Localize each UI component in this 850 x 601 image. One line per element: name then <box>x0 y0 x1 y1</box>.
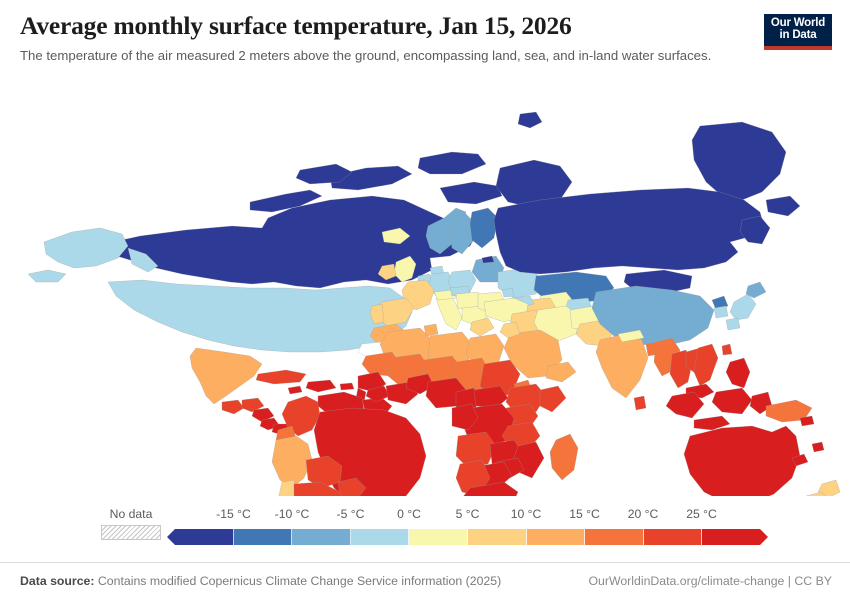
map-region-south-korea[interactable] <box>714 306 728 318</box>
map-region-cuba[interactable] <box>256 370 306 384</box>
legend-segment-0[interactable] <box>175 529 234 545</box>
legend-tick-8: 25 °C <box>686 508 717 520</box>
our-world-in-data-logo[interactable]: Our World in Data <box>764 14 832 50</box>
legend-segment-4[interactable] <box>409 529 468 545</box>
map-region-japan-kyushu[interactable] <box>726 318 740 330</box>
legend-tick-6: 15 °C <box>569 508 600 520</box>
map-region-jamaica[interactable] <box>288 386 302 394</box>
page-title: Average monthly surface temperature, Jan… <box>20 12 750 41</box>
legend-segment-5[interactable] <box>468 529 527 545</box>
legend-color-bar[interactable] <box>175 529 760 545</box>
attribution-link[interactable]: OurWorldinData.org/climate-change | CC B… <box>588 574 832 588</box>
world-choropleth-map[interactable] <box>0 96 850 496</box>
map-region-russia-east-tip[interactable] <box>766 196 800 216</box>
map-region-japan-honshu[interactable] <box>730 294 756 320</box>
map-region-vietnam[interactable] <box>694 344 718 386</box>
data-source-label: Data source: <box>20 574 95 588</box>
legend-no-data-label: No data <box>95 508 167 520</box>
legend-no-data-swatch[interactable] <box>101 525 161 540</box>
map-legend: No data -15 °C-10 °C-5 °C0 °C5 °C10 °C15… <box>0 500 850 556</box>
legend-tick-labels: -15 °C-10 °C-5 °C0 °C5 °C10 °C15 °C20 °C… <box>175 508 760 524</box>
legend-tick-5: 10 °C <box>511 508 542 520</box>
map-region-mexico[interactable] <box>190 348 262 404</box>
map-region-estonia-dot[interactable] <box>482 256 494 263</box>
legend-tick-2: -5 °C <box>337 508 365 520</box>
map-region-sri-lanka[interactable] <box>634 396 646 410</box>
map-region-borneo[interactable] <box>712 388 752 414</box>
legend-tick-1: -10 °C <box>275 508 310 520</box>
map-region-canada-arctic-4[interactable] <box>440 182 502 204</box>
map-region-india[interactable] <box>596 334 648 398</box>
legend-cap-right-icon <box>760 529 768 545</box>
legend-segment-3[interactable] <box>351 529 410 545</box>
logo-line-2: in Data <box>780 30 817 42</box>
legend-segment-7[interactable] <box>585 529 644 545</box>
map-region-japan-hokkaido[interactable] <box>746 282 766 298</box>
map-region-canada-arctic-3[interactable] <box>418 152 486 174</box>
legend-tick-4: 5 °C <box>456 508 480 520</box>
map-region-canada-mainland[interactable] <box>104 196 478 288</box>
map-region-fiji[interactable] <box>812 442 824 452</box>
map-region-somalia[interactable] <box>540 386 566 412</box>
data-source-text: Data source: Contains modified Copernicu… <box>20 574 501 588</box>
legend-segment-6[interactable] <box>527 529 586 545</box>
legend-tick-0: -15 °C <box>216 508 251 520</box>
map-region-aleutians[interactable] <box>28 270 66 282</box>
legend-no-data-group[interactable]: No data <box>95 508 167 540</box>
map-region-taiwan[interactable] <box>722 344 732 355</box>
legend-segment-1[interactable] <box>234 529 293 545</box>
owid-chart-container: Average monthly surface temperature, Jan… <box>0 0 850 600</box>
legend-cap-left-icon <box>167 529 175 545</box>
legend-color-ramp-group[interactable]: -15 °C-10 °C-5 °C0 °C5 °C10 °C15 °C20 °C… <box>175 500 760 556</box>
map-region-guatemala[interactable] <box>222 400 244 414</box>
map-region-philippines[interactable] <box>726 358 750 388</box>
chart-subtitle: The temperature of the air measured 2 me… <box>20 47 732 66</box>
map-region-united-states[interactable] <box>108 280 412 352</box>
legend-tick-7: 20 °C <box>628 508 659 520</box>
map-region-russia-kamchatka[interactable] <box>740 216 770 244</box>
map-region-svalbard[interactable] <box>518 112 542 128</box>
legend-tick-3: 0 °C <box>397 508 421 520</box>
chart-header: Average monthly surface temperature, Jan… <box>20 12 750 65</box>
map-region-greenland[interactable] <box>692 122 786 200</box>
map-region-tunisia[interactable] <box>424 324 438 336</box>
map-region-alaska[interactable] <box>44 228 128 268</box>
map-region-hispaniola[interactable] <box>306 380 336 392</box>
data-source-value: Contains modified Copernicus Climate Cha… <box>95 574 502 588</box>
map-region-puerto-rico[interactable] <box>340 383 354 390</box>
legend-segment-9[interactable] <box>702 529 760 545</box>
legend-segment-2[interactable] <box>292 529 351 545</box>
legend-segment-8[interactable] <box>644 529 703 545</box>
chart-footer: Data source: Contains modified Copernicu… <box>0 562 850 601</box>
map-region-madagascar[interactable] <box>550 434 578 480</box>
map-region-finland[interactable] <box>470 208 498 248</box>
map-region-australia[interactable] <box>684 426 800 496</box>
map-svg <box>0 96 850 496</box>
